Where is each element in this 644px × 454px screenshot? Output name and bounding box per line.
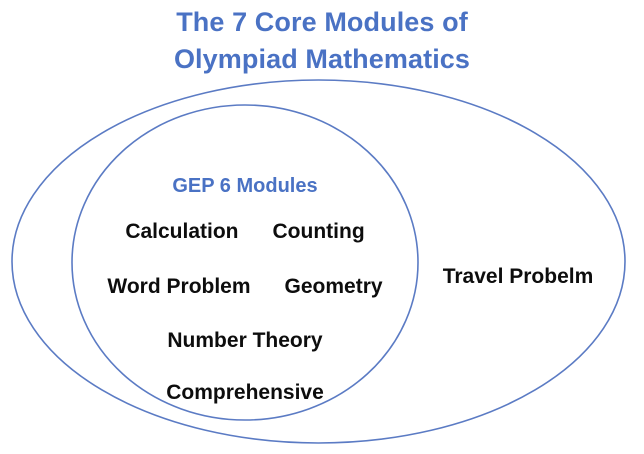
module-calculation: Calculation	[125, 220, 238, 244]
outer-set-label-travel-problem: Travel Probelm	[420, 266, 616, 287]
diagram-labels: GEP 6 Modules Calculation Counting Word …	[0, 0, 644, 454]
module-row-4: Comprehensive	[72, 381, 418, 405]
module-number-theory: Number Theory	[167, 329, 322, 352]
module-row-3: Number Theory	[72, 329, 418, 353]
module-word-problem: Word Problem	[107, 275, 250, 299]
diagram-canvas: The 7 Core Modules of Olympiad Mathemati…	[0, 0, 644, 454]
module-geometry: Geometry	[285, 275, 383, 299]
inner-set-heading: GEP 6 Modules	[72, 176, 418, 196]
module-row-2: Word Problem Geometry	[72, 275, 418, 299]
module-comprehensive: Comprehensive	[166, 381, 324, 404]
module-counting: Counting	[273, 220, 365, 244]
module-row-1: Calculation Counting	[72, 220, 418, 244]
